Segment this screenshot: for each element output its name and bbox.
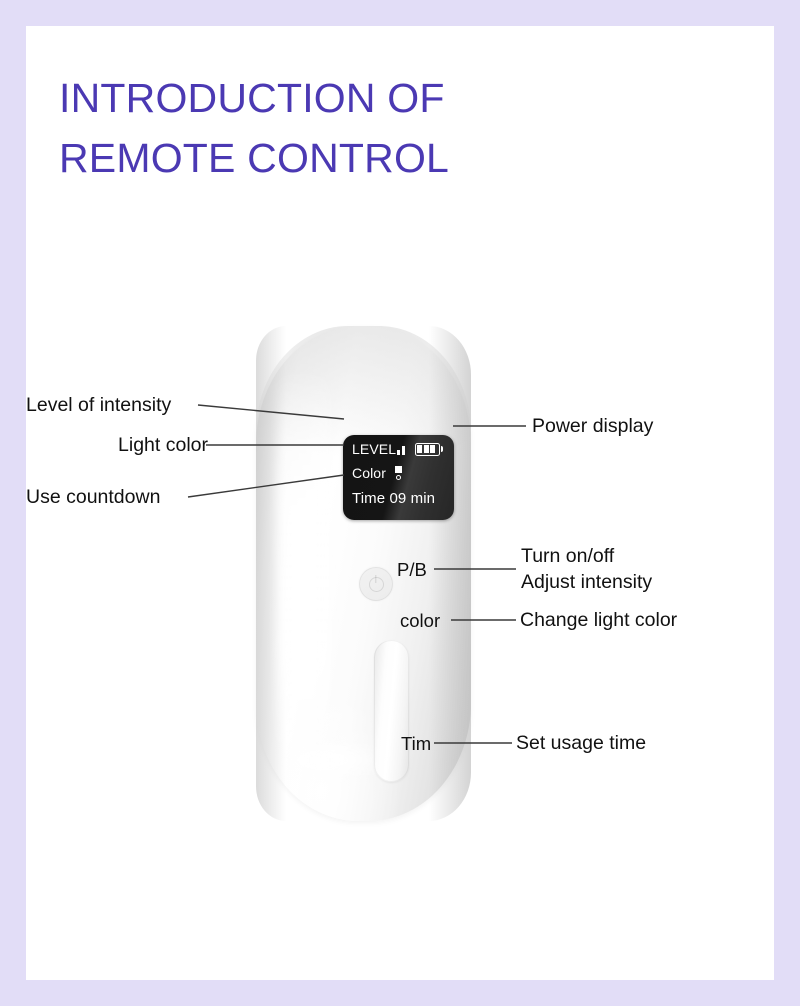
callout-power-display: Power display [532,413,653,439]
lcd-level-label: LEVEL [352,441,396,457]
rocker-button[interactable] [374,640,409,782]
power-button[interactable] [359,567,393,601]
power-icon [369,577,384,592]
battery-terminal [441,446,444,452]
color-swatch-icon [395,466,402,480]
color-swatch-square [395,466,402,473]
callout-light-color: Light color [26,432,208,458]
lcd-row-level: LEVEL [352,441,443,457]
marking-tim: Tim [401,731,431,757]
battery-icon [415,443,444,456]
device-right-edge-shading [429,326,471,821]
callout-level-of-intensity: Level of intensity [26,392,206,418]
lcd-display: LEVEL Color Time 09 min [343,435,454,520]
color-swatch-circle [396,475,401,480]
callout-use-countdown: Use countdown [26,484,190,510]
callout-turn-on-off-adjust-intensity: Turn on/off Adjust intensity [521,543,652,595]
lcd-row-time: Time 09 min [352,490,435,507]
page-root: INTRODUCTION OF REMOTE CONTROL LEVEL [0,0,800,1006]
callout-change-light-color: Change light color [520,607,677,633]
callout-set-usage-time: Set usage time [516,730,646,756]
marking-color: color [400,608,440,634]
device-gloss-highlight [278,366,330,766]
battery-shell [415,443,440,456]
content-canvas: INTRODUCTION OF REMOTE CONTROL LEVEL [26,26,774,980]
lcd-color-label: Color [352,465,386,481]
signal-bars-icon [397,444,405,455]
lcd-row-color: Color [352,465,402,481]
marking-pb: P/B [397,557,427,583]
